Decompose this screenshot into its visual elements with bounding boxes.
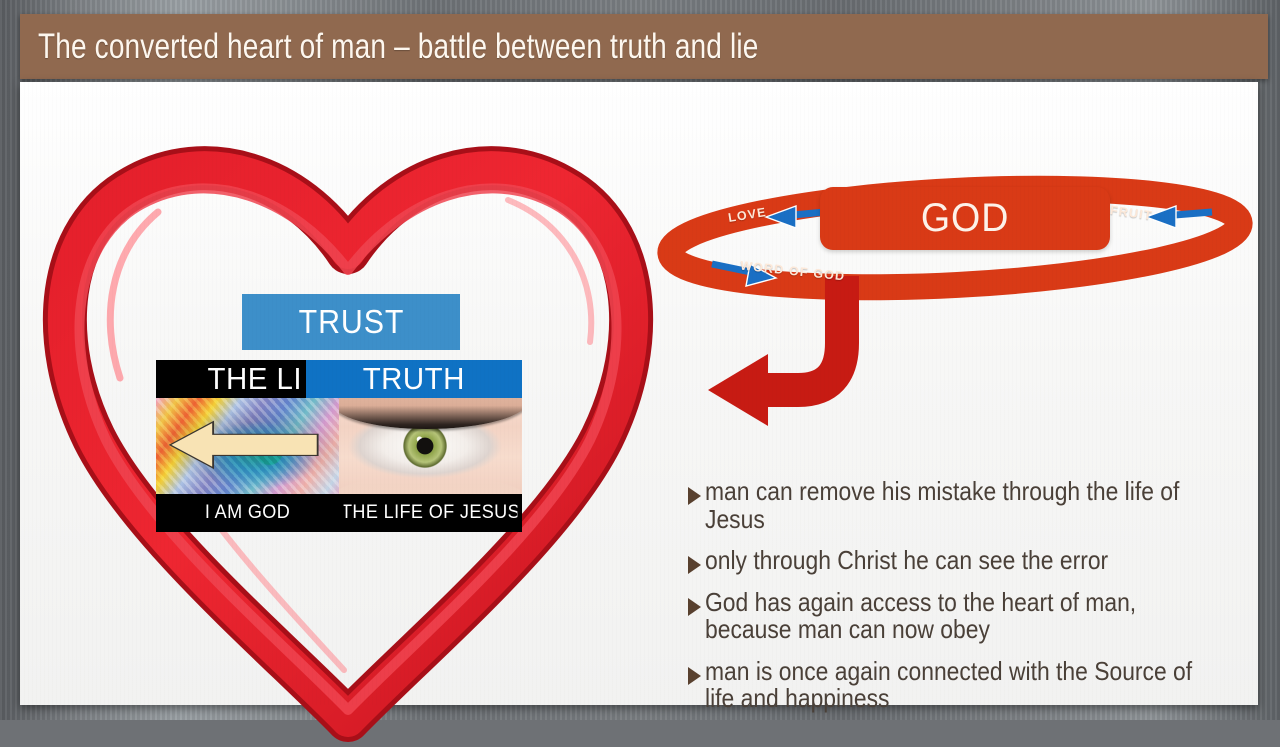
lie-label: THE LI bbox=[207, 361, 303, 397]
bullet-text: only through Christ he can see the error bbox=[705, 547, 1196, 575]
slide-title-bar: The converted heart of man – battle betw… bbox=[20, 14, 1268, 79]
god-center-box: GOD bbox=[820, 187, 1110, 250]
flow-arrow-head bbox=[708, 354, 768, 426]
panel-headers: THE LI TRUTH bbox=[156, 360, 522, 398]
lie-truth-panel: THE LI TRUTH I AM GOD THE LIFE OF JESUS bbox=[156, 360, 522, 532]
panel-images bbox=[156, 398, 522, 494]
slide-canvas: TRUST THE LI TRUTH I AM GOD THE LIFE OF … bbox=[20, 82, 1258, 705]
bullet-text: man can remove his mistake through the l… bbox=[705, 478, 1196, 533]
bullet-text: God has again access to the heart of man… bbox=[705, 589, 1196, 644]
left-caption: I AM GOD bbox=[161, 494, 335, 532]
list-item: man can remove his mistake through the l… bbox=[688, 478, 1263, 533]
page-title: The converted heart of man – battle betw… bbox=[38, 27, 758, 67]
list-item: only through Christ he can see the error bbox=[688, 547, 1263, 575]
lie-header: THE LI bbox=[156, 360, 306, 398]
trust-banner: TRUST bbox=[242, 294, 460, 350]
bullet-list: man can remove his mistake through the l… bbox=[688, 478, 1263, 727]
abstract-painted-eye-image bbox=[156, 398, 339, 494]
god-label: GOD bbox=[921, 196, 1009, 241]
panel-captions: I AM GOD THE LIFE OF JESUS bbox=[156, 494, 522, 532]
god-cycle-diagram: GOD LOVE FRUIT WORD OF GOD bbox=[650, 168, 1280, 468]
right-caption: THE LIFE OF JESUS bbox=[344, 494, 518, 532]
triangle-right-icon bbox=[688, 598, 701, 616]
trust-label: TRUST bbox=[298, 303, 404, 341]
triangle-right-icon bbox=[688, 667, 701, 685]
list-item: man is once again connected with the Sou… bbox=[688, 658, 1263, 713]
left-arrow-icon bbox=[167, 418, 321, 472]
truth-header: TRUTH bbox=[306, 360, 522, 398]
truth-label: TRUTH bbox=[363, 361, 465, 397]
triangle-right-icon bbox=[688, 487, 701, 505]
list-item: God has again access to the heart of man… bbox=[688, 589, 1263, 644]
triangle-right-icon bbox=[688, 556, 701, 574]
green-eye-image bbox=[339, 398, 522, 494]
bullet-text: man is once again connected with the Sou… bbox=[705, 658, 1196, 713]
